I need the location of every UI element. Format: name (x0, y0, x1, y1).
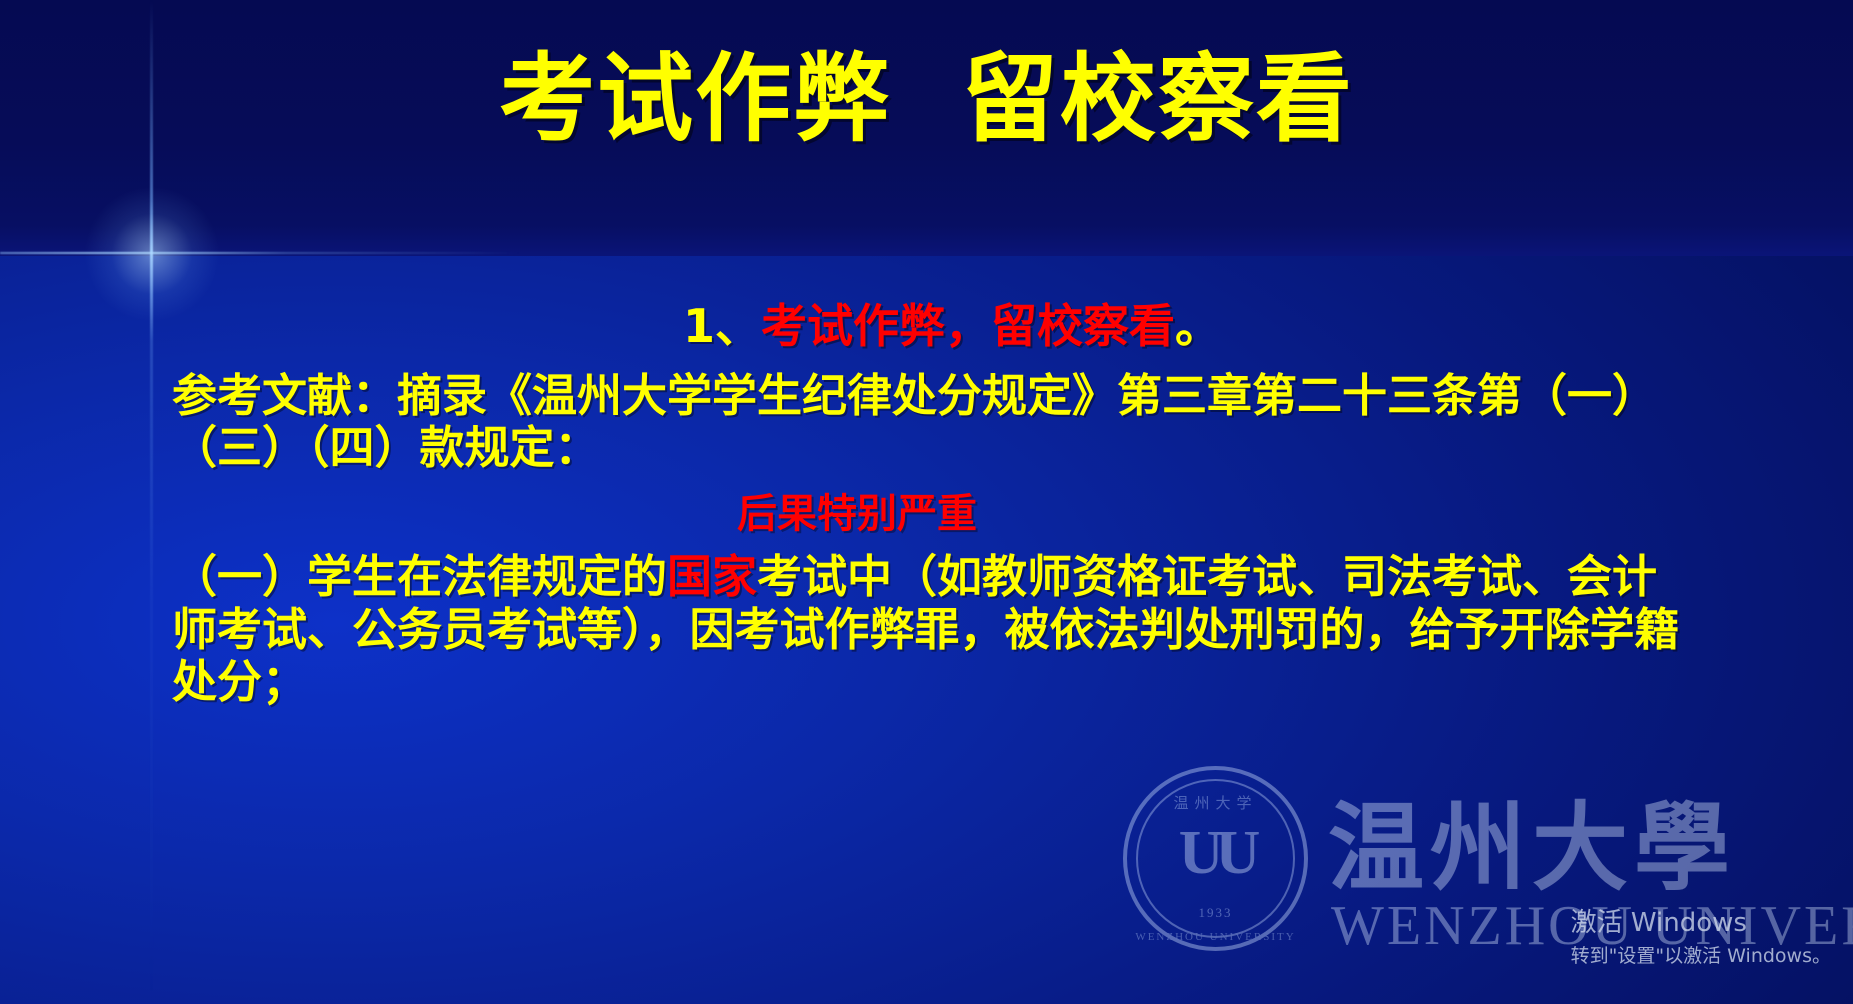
university-seal-icon: 温州大学 UU 1933 WENZHOU UNIVERSITY (1123, 766, 1308, 951)
slide-body: 1、考试作弊，留校察看。 参考文献：摘录《温州大学学生纪律处分规定》第三章第二十… (172, 300, 1692, 715)
emphasis-line: 后果特别严重 (172, 481, 1692, 539)
heading-line: 1、考试作弊，留校察看。 (172, 300, 1692, 354)
slide-title: 考试作弊 留校察看 (0, 44, 1853, 154)
windows-activation-watermark: 激活 Windows 转到"设置"以激活 Windows。 (1571, 906, 1831, 970)
clause-red-text: 国家 (667, 552, 757, 602)
seal-year: 1933 (1123, 905, 1308, 921)
university-name-en: WENZHOU UNIVERSITY (1331, 894, 1853, 958)
decorative-horizontal-light-line (0, 252, 520, 254)
heading-red-text: 考试作弊，留校察看 (761, 301, 1175, 352)
activation-title: 激活 Windows (1571, 906, 1831, 941)
university-watermark: 温州大学 UU 1933 WENZHOU UNIVERSITY 温州大學 WEN… (1123, 766, 1843, 996)
reference-paragraph: 参考文献：摘录《温州大学学生纪律处分规定》第三章第二十三条第（一）（三）（四）款… (172, 370, 1692, 475)
heading-tail-text: 。 (1175, 301, 1221, 352)
clause-paragraph: （一）学生在法律规定的国家考试中（如教师资格证考试、司法考试、会计师考试、公务员… (172, 551, 1692, 709)
university-name-cn: 温州大學 (1328, 770, 1736, 909)
seal-monogram: UU (1123, 818, 1308, 889)
seal-top-text: 温州大学 (1123, 792, 1308, 813)
activation-subtitle: 转到"设置"以激活 Windows。 (1571, 944, 1831, 970)
presentation-slide: 考试作弊 留校察看 1、考试作弊，留校察看。 参考文献：摘录《温州大学学生纪律处… (0, 0, 1853, 1004)
clause-prefix-text: （一）学生在法律规定的 (172, 552, 667, 602)
heading-number: 1、 (683, 299, 761, 353)
seal-arc-text: WENZHOU UNIVERSITY (1123, 931, 1308, 943)
seal-inner-ring (1136, 779, 1295, 938)
seal-outer-ring (1123, 766, 1308, 951)
